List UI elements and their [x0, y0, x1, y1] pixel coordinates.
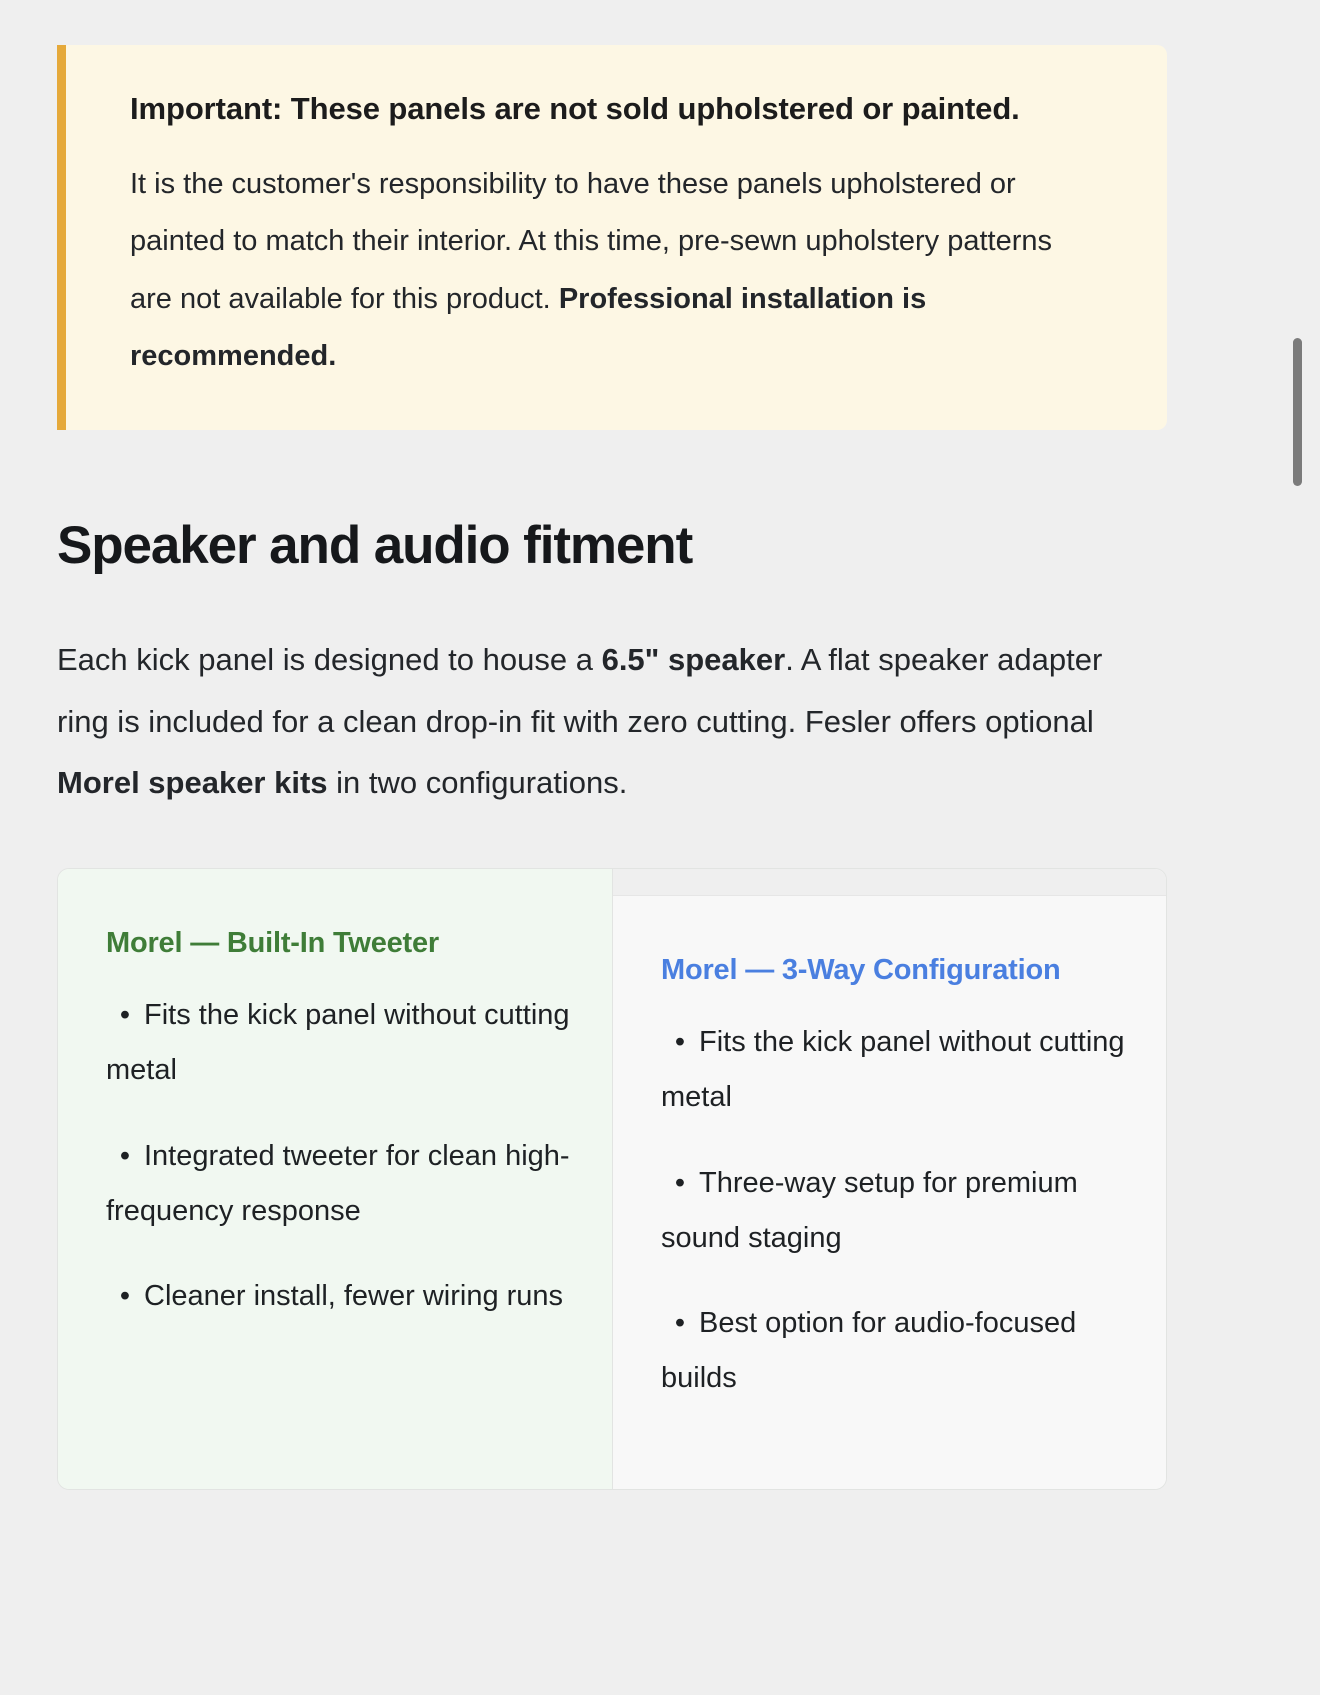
bullet-icon: •	[106, 988, 144, 1043]
card-morel-built-in-tweeter: Morel — Built-In Tweeter •Fits the kick …	[58, 869, 612, 1489]
list-item: •Fits the kick panel without cutting met…	[106, 988, 572, 1098]
list-item: •Fits the kick panel without cutting met…	[661, 1015, 1126, 1125]
bullet-icon: •	[661, 1015, 699, 1070]
lead-emphasis-speaker-size: 6.5" speaker	[602, 642, 786, 677]
page-scrollbar[interactable]	[1296, 0, 1312, 1695]
card-right-content: Morel — 3-Way Configuration •Fits the ki…	[613, 896, 1166, 1456]
bullet-icon: •	[106, 1129, 144, 1184]
card-title-3-way-configuration: Morel — 3-Way Configuration	[661, 954, 1126, 987]
section-heading: Speaker and audio fitment	[57, 514, 1167, 578]
page-root: Important: These panels are not sold uph…	[0, 0, 1320, 1695]
lead-emphasis-morel-kits: Morel speaker kits	[57, 765, 328, 800]
lead-text-3: in two configurations.	[328, 765, 628, 800]
list-item-text: Three-way setup for premium sound stagin…	[661, 1167, 1078, 1254]
list-item-text: Best option for audio-focused builds	[661, 1307, 1076, 1394]
scrollbar-thumb[interactable]	[1293, 338, 1302, 486]
section-lead-paragraph: Each kick panel is designed to house a 6…	[57, 629, 1142, 813]
list-item-text: Fits the kick panel without cutting meta…	[106, 999, 570, 1086]
list-item: •Three-way setup for premium sound stagi…	[661, 1156, 1126, 1266]
article-content: Important: These panels are not sold uph…	[57, 0, 1167, 1490]
bullet-icon: •	[661, 1296, 699, 1351]
callout-body: It is the customer's responsibility to h…	[130, 156, 1080, 386]
bullet-list-built-in-tweeter: •Fits the kick panel without cutting met…	[106, 988, 572, 1323]
bullet-icon: •	[661, 1156, 699, 1211]
card-title-built-in-tweeter: Morel — Built-In Tweeter	[106, 927, 572, 960]
card-right-top-spacer	[613, 869, 1166, 896]
important-callout: Important: These panels are not sold uph…	[57, 45, 1167, 430]
bullet-list-3-way-configuration: •Fits the kick panel without cutting met…	[661, 1015, 1126, 1406]
lead-text-1: Each kick panel is designed to house a	[57, 642, 602, 677]
callout-title: Important: These panels are not sold uph…	[130, 85, 1030, 134]
bullet-icon: •	[106, 1269, 144, 1324]
list-item-text: Fits the kick panel without cutting meta…	[661, 1026, 1125, 1113]
list-item-text: Cleaner install, fewer wiring runs	[144, 1280, 563, 1312]
speaker-config-comparison: Morel — Built-In Tweeter •Fits the kick …	[57, 868, 1167, 1490]
list-item: •Best option for audio-focused builds	[661, 1296, 1126, 1406]
list-item: •Integrated tweeter for clean high-frequ…	[106, 1129, 572, 1239]
list-item: •Cleaner install, fewer wiring runs	[106, 1269, 572, 1324]
list-item-text: Integrated tweeter for clean high-freque…	[106, 1140, 570, 1227]
card-morel-3-way-configuration: Morel — 3-Way Configuration •Fits the ki…	[612, 869, 1166, 1489]
